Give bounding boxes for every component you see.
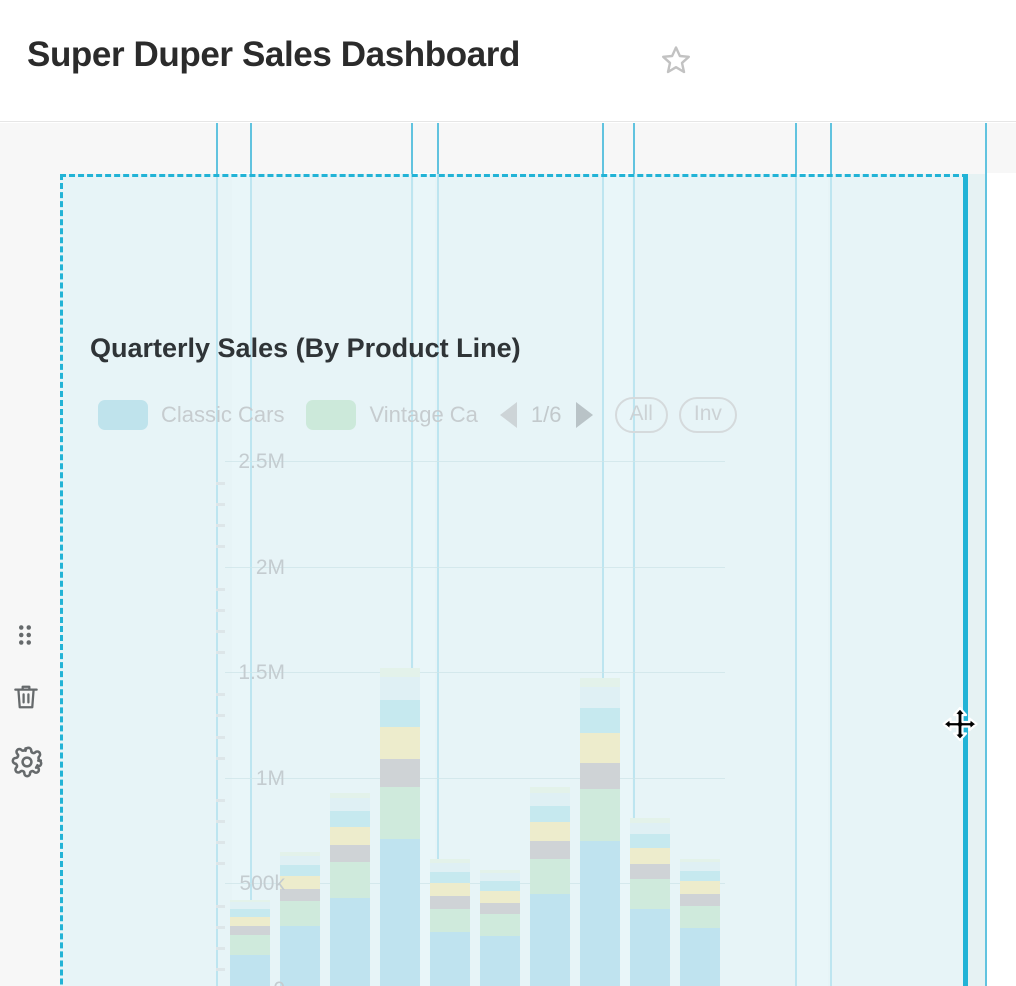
legend-invert-button[interactable]: Inv — [679, 397, 737, 433]
bar[interactable] — [430, 859, 470, 986]
y-minor-tick — [216, 588, 225, 591]
bar-segment[interactable] — [280, 926, 320, 986]
bar-segment[interactable] — [330, 811, 370, 827]
y-minor-tick — [216, 503, 225, 506]
y-tick-label: 2.5M — [238, 450, 285, 474]
bar-segment[interactable] — [630, 818, 670, 823]
trash-icon[interactable] — [10, 681, 42, 718]
bar-segment[interactable] — [380, 787, 420, 839]
bar[interactable] — [330, 793, 370, 986]
y-minor-tick — [216, 524, 225, 527]
y-tick-label: 2M — [256, 556, 285, 580]
bar[interactable] — [580, 678, 620, 986]
grid-guide — [985, 123, 987, 986]
y-minor-tick — [216, 714, 225, 717]
legend-swatch — [306, 400, 356, 430]
bar-segment[interactable] — [530, 793, 570, 806]
y-minor-tick — [216, 482, 225, 485]
y-gridline — [225, 567, 725, 568]
bar-segment[interactable] — [430, 859, 470, 863]
bar-segment[interactable] — [530, 859, 570, 894]
bar-segment[interactable] — [280, 865, 320, 876]
bar-segment[interactable] — [580, 789, 620, 841]
bar-segment[interactable] — [330, 898, 370, 986]
bar-segment[interactable] — [680, 928, 720, 986]
grid-gutter — [986, 173, 1016, 986]
bar-segment[interactable] — [230, 909, 270, 917]
y-minor-tick — [216, 736, 225, 739]
bar-segment[interactable] — [630, 834, 670, 848]
bar-segment[interactable] — [630, 823, 670, 834]
y-minor-tick — [216, 630, 225, 633]
legend-swatch — [98, 400, 148, 430]
page-title: Super Duper Sales Dashboard — [27, 35, 520, 75]
bar-segment[interactable] — [280, 901, 320, 925]
y-minor-tick — [216, 841, 225, 844]
bar-segment[interactable] — [480, 891, 520, 903]
y-minor-tick — [216, 799, 225, 802]
bar-segment[interactable] — [580, 687, 620, 708]
bar-segment[interactable] — [530, 894, 570, 986]
gear-icon[interactable] — [10, 745, 44, 784]
bar-segment[interactable] — [680, 894, 720, 906]
star-icon[interactable] — [660, 44, 692, 76]
bar-segment[interactable] — [480, 881, 520, 891]
bar-segment[interactable] — [430, 896, 470, 909]
bar-segment[interactable] — [530, 841, 570, 859]
bar-segment[interactable] — [380, 759, 420, 788]
bar-segment[interactable] — [530, 787, 570, 793]
bar-segment[interactable] — [230, 935, 270, 955]
chart-legend: Classic Cars Vintage Ca 1/6 All Inv — [98, 399, 748, 431]
y-minor-tick — [216, 862, 225, 865]
y-minor-tick — [216, 947, 225, 950]
bar-segment[interactable] — [480, 870, 520, 873]
bar-segment[interactable] — [330, 793, 370, 798]
bar[interactable] — [480, 870, 520, 986]
bar[interactable] — [280, 852, 320, 986]
bar-segment[interactable] — [680, 881, 720, 894]
y-minor-tick — [216, 545, 225, 548]
bar[interactable] — [380, 668, 420, 986]
bar-segment[interactable] — [430, 863, 470, 872]
move-cursor — [941, 705, 979, 748]
widget-title: Quarterly Sales (By Product Line) — [90, 333, 521, 364]
y-minor-tick — [216, 609, 225, 612]
legend-item[interactable]: Classic Cars — [98, 400, 284, 430]
bar-segment[interactable] — [280, 889, 320, 901]
y-minor-tick — [216, 651, 225, 654]
y-tick-label: 1M — [256, 767, 285, 791]
legend-all-button[interactable]: All — [615, 397, 668, 433]
bar-segment[interactable] — [480, 936, 520, 986]
y-minor-tick — [216, 926, 225, 929]
bar-segment[interactable] — [530, 806, 570, 822]
legend-page-count: 1/6 — [531, 402, 562, 428]
bar-segment[interactable] — [280, 876, 320, 889]
bar-segment[interactable] — [630, 864, 670, 879]
bar-segment[interactable] — [380, 677, 420, 699]
bar-segment[interactable] — [680, 859, 720, 863]
y-tick-label: 0 — [273, 978, 285, 986]
y-minor-tick — [216, 693, 225, 696]
y-gridline — [225, 778, 725, 779]
bar-segment[interactable] — [680, 906, 720, 928]
bar-segment[interactable] — [580, 763, 620, 789]
bar-segment[interactable] — [480, 914, 520, 936]
bar-segment[interactable] — [680, 862, 720, 870]
drag-handle-icon[interactable] — [10, 620, 40, 655]
bar-segment[interactable] — [430, 932, 470, 986]
legend-label: Vintage Ca — [369, 402, 477, 428]
bar-segment[interactable] — [530, 822, 570, 841]
chart-plot-area[interactable] — [225, 461, 725, 986]
legend-item[interactable]: Vintage Ca — [306, 400, 477, 430]
bar-segment[interactable] — [330, 845, 370, 862]
bar-segment[interactable] — [580, 733, 620, 763]
legend-pager: 1/6 — [500, 402, 593, 428]
bar-segment[interactable] — [580, 841, 620, 986]
bar-segment[interactable] — [480, 903, 520, 914]
y-minor-tick — [216, 757, 225, 760]
bar-segment[interactable] — [230, 926, 270, 935]
bar-segment[interactable] — [430, 909, 470, 932]
app-header: Super Duper Sales Dashboard — [0, 0, 1016, 122]
caret-left-icon[interactable] — [500, 402, 517, 428]
bar-segment[interactable] — [430, 872, 470, 883]
bar-segment[interactable] — [230, 902, 270, 908]
y-minor-tick — [216, 905, 225, 908]
bar-segment[interactable] — [630, 848, 670, 864]
y-minor-tick — [216, 820, 225, 823]
bar-segment[interactable] — [630, 909, 670, 986]
y-tick-label: 500k — [239, 872, 285, 896]
y-minor-tick — [216, 968, 225, 971]
bar[interactable] — [230, 900, 270, 986]
bar-segment[interactable] — [480, 873, 520, 881]
bar-segment[interactable] — [380, 668, 420, 678]
bar[interactable] — [630, 818, 670, 986]
bar-segment[interactable] — [330, 862, 370, 898]
bar-segment[interactable] — [630, 879, 670, 909]
dashboard-canvas[interactable]: Quarterly Sales (By Product Line) Classi… — [0, 123, 1016, 986]
bar-segment[interactable] — [380, 700, 420, 727]
y-gridline — [225, 672, 725, 673]
bar-segment[interactable] — [580, 708, 620, 733]
bar-segment[interactable] — [280, 856, 320, 865]
bar-segment[interactable] — [380, 727, 420, 759]
legend-label: Classic Cars — [161, 402, 284, 428]
bar[interactable] — [680, 859, 720, 986]
bar[interactable] — [530, 787, 570, 986]
bar-segment[interactable] — [430, 883, 470, 896]
y-gridline — [225, 461, 725, 462]
caret-right-icon[interactable] — [576, 402, 593, 428]
bar-segment[interactable] — [230, 955, 270, 986]
bar-segment[interactable] — [330, 827, 370, 846]
bar-segment[interactable] — [580, 678, 620, 687]
y-tick-label: 1.5M — [238, 661, 285, 685]
bar-segment[interactable] — [680, 871, 720, 882]
bar-segment[interactable] — [330, 798, 370, 811]
bar-segment[interactable] — [230, 917, 270, 927]
panel-resize-handle[interactable] — [963, 174, 968, 986]
bar-segment[interactable] — [230, 900, 270, 903]
bar-segment[interactable] — [380, 839, 420, 986]
bar-segment[interactable] — [280, 852, 320, 856]
